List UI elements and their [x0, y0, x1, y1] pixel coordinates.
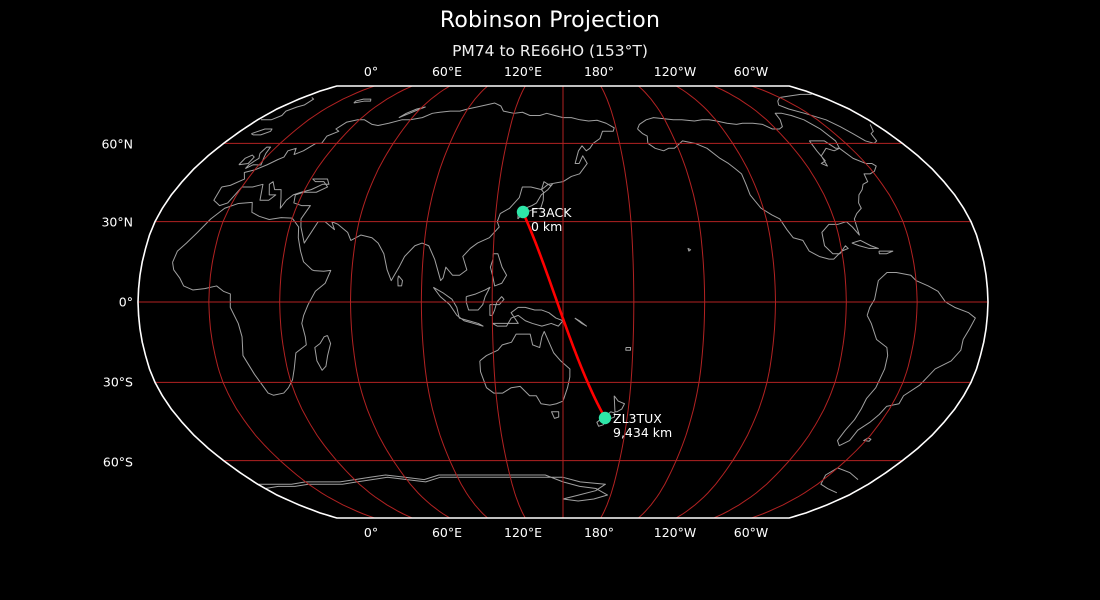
station-annotation: ZL3TUX9,434 km: [613, 412, 672, 439]
station-distance: 0 km: [531, 220, 571, 234]
top-tick-label: 120°W: [654, 64, 696, 79]
station-callsign: F3ACK: [531, 206, 571, 220]
left-tick-label: 30°S: [103, 375, 133, 390]
bottom-tick-label: 180°: [584, 525, 614, 540]
station-distance: 9,434 km: [613, 426, 672, 440]
bottom-tick-label: 0°: [364, 525, 378, 540]
great-circle-path: [523, 212, 605, 417]
robinson-map-canvas: [0, 0, 1100, 600]
left-tick-label: 60°N: [101, 137, 133, 152]
graticule-layer: [138, 86, 988, 518]
top-tick-label: 60°E: [432, 64, 462, 79]
bottom-tick-label: 60°W: [734, 525, 769, 540]
station-markers-layer: [517, 206, 611, 424]
left-tick-label: 0°: [119, 295, 133, 310]
bottom-tick-label: 120°W: [654, 525, 696, 540]
top-tick-label: 180°: [584, 64, 614, 79]
coastlines-layer: [173, 94, 976, 501]
station-marker-zl3tux[interactable]: [599, 412, 611, 424]
station-annotation: F3ACK0 km: [531, 206, 571, 233]
left-tick-label: 30°N: [101, 215, 133, 230]
bottom-tick-label: 60°E: [432, 525, 462, 540]
top-tick-label: 120°E: [504, 64, 542, 79]
map-figure: Robinson Projection PM74 to RE66HO (153°…: [0, 0, 1100, 600]
bottom-tick-label: 120°E: [504, 525, 542, 540]
top-tick-label: 60°W: [734, 64, 769, 79]
left-tick-label: 60°S: [103, 455, 133, 470]
top-tick-label: 0°: [364, 64, 378, 79]
station-callsign: ZL3TUX: [613, 412, 672, 426]
station-marker-f3ack[interactable]: [517, 206, 529, 218]
